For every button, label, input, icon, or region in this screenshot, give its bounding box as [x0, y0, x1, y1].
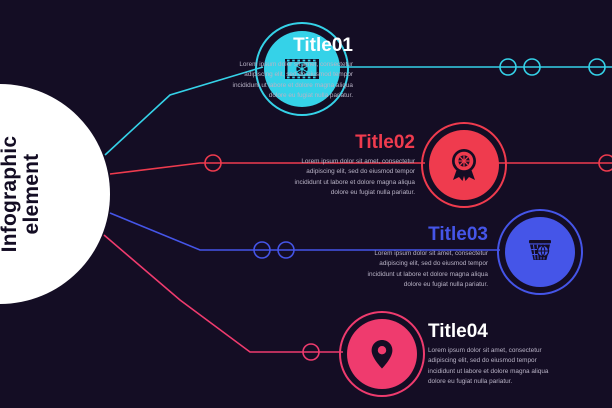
- item-title-02: Title02: [285, 133, 415, 152]
- infographic-canvas: Infographic element: [0, 0, 612, 408]
- node-inner-04: [347, 319, 417, 389]
- node-inner-02: [429, 130, 499, 200]
- main-circle-label: Infographic element: [0, 136, 43, 253]
- node-circle-03[interactable]: [497, 209, 583, 295]
- item-title-04: Title04: [428, 322, 558, 341]
- text-block-02: Title02 Lorem ipsum dolor sit amet, cons…: [285, 133, 415, 199]
- basketball-hoop-icon: [522, 235, 558, 269]
- node-circle-04[interactable]: [339, 311, 425, 397]
- node-inner-03: [505, 217, 575, 287]
- text-block-03: Title03 Lorem ipsum dolor sit amet, cons…: [358, 225, 488, 291]
- item-body-02: Lorem ipsum dolor sit amet, consectetur …: [285, 157, 415, 199]
- award-medal-icon: [447, 147, 481, 183]
- item-body-04: Lorem ipsum dolor sit amet, consectetur …: [428, 346, 558, 388]
- item-title-03: Title03: [358, 225, 488, 244]
- node-circle-02[interactable]: [421, 122, 507, 208]
- item-body-01: Lorem ipsum dolor sit amet, consectetur …: [218, 60, 353, 102]
- map-pin-icon: [368, 337, 396, 371]
- text-block-01: Title01 Lorem ipsum dolor sit amet, cons…: [218, 36, 353, 102]
- item-title-01: Title01: [218, 36, 353, 55]
- text-block-04: Title04 Lorem ipsum dolor sit amet, cons…: [428, 322, 558, 388]
- item-body-03: Lorem ipsum dolor sit amet, consectetur …: [358, 249, 488, 291]
- connector-path-04: [104, 235, 343, 352]
